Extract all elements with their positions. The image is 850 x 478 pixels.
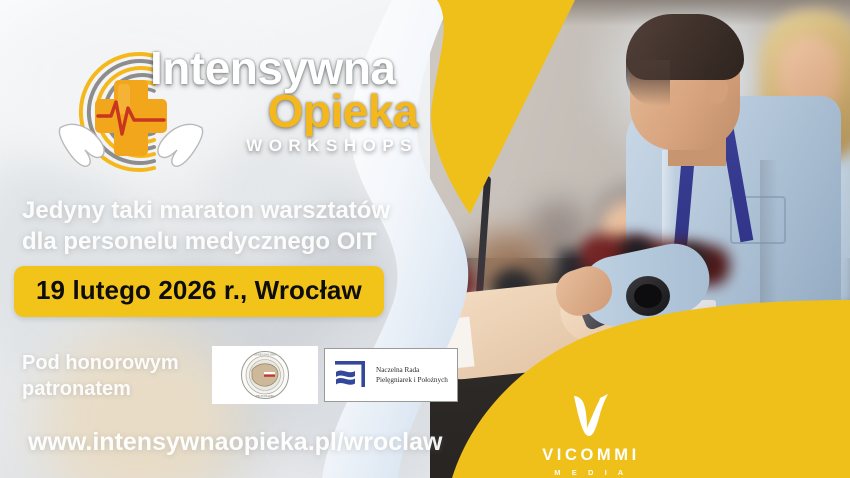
tagline: Jedyny taki maraton warsztatów dla perso… (22, 196, 422, 257)
svg-text:PIELĘGNIAREK: PIELĘGNIAREK (256, 395, 275, 398)
nrpip-label: Naczelna Rada Pielęgniarek i Położnych (376, 365, 448, 386)
nrpip-mark-icon (333, 359, 369, 391)
sponsor-vicommi-media: VICOMMI M E D I A (516, 392, 666, 477)
nrpip-line-2: Pielęgniarek i Położnych (376, 375, 448, 385)
patron-logo-nrpip: Naczelna Rada Pielęgniarek i Położnych (324, 348, 458, 402)
photo-scope-tip (474, 160, 486, 182)
left-content: Intensywna Opieka WORKSHOPS Jedyny taki … (0, 0, 470, 478)
patron-logo-doipip: OKRĘGOWA IZBA PIELĘGNIAREK (212, 346, 318, 404)
sponsor-name: VICOMMI (516, 446, 666, 465)
photo-airway-connector (654, 364, 676, 384)
photo-wristwatch-face (634, 284, 662, 308)
date-location-badge: 19 lutego 2026 r., Wrocław (14, 266, 384, 317)
tagline-line-1: Jedyny taki maraton warsztatów (22, 196, 422, 227)
patronage-label: Pod honorowym patronatem (22, 350, 212, 402)
sponsor-subtitle: M E D I A (516, 468, 666, 477)
logo-line-workshops: WORKSHOPS (150, 136, 418, 156)
promo-banner: Intensywna Opieka WORKSHOPS Jedyny taki … (0, 0, 850, 478)
tagline-line-2: dla personelu medycznego OIT (22, 227, 422, 258)
website-url[interactable]: www.intensywnaopieka.pl/wroclaw (28, 428, 442, 457)
logo-wordmark: Intensywna Opieka WORKSHOPS (150, 46, 418, 156)
patronage-label-line-2: patronatem (22, 376, 212, 402)
doipip-seal-icon: OKRĘGOWA IZBA PIELĘGNIAREK (240, 350, 290, 400)
nrpip-line-1: Naczelna Rada (376, 365, 448, 375)
vicommi-v-mark-icon (567, 392, 615, 438)
svg-text:OKRĘGOWA IZBA: OKRĘGOWA IZBA (254, 354, 276, 357)
logo-line-opieka: Opieka (150, 88, 418, 134)
patronage-label-line-1: Pod honorowym (22, 350, 212, 376)
